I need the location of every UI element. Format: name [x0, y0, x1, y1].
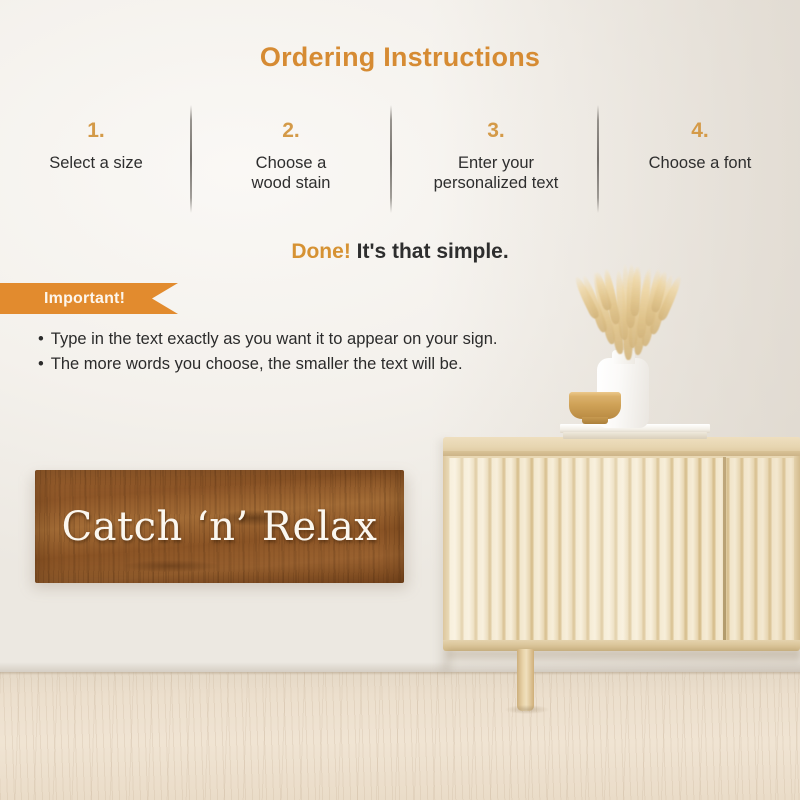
sideboard-under-shadow	[447, 650, 800, 666]
important-ribbon-label: Important!	[44, 290, 125, 308]
sideboard-top-edge	[443, 451, 800, 456]
sideboard-leg	[517, 649, 534, 711]
step-3-number: 3.	[398, 118, 594, 144]
step-3-label: Enter yourpersonalized text	[398, 153, 594, 193]
bullet-item-2: •The more words you choose, the smaller …	[38, 352, 638, 377]
bowl-foot	[582, 417, 608, 424]
important-ribbon: Important!	[0, 283, 178, 314]
floor-wall-seam	[0, 672, 800, 675]
sideboard	[443, 437, 800, 669]
bowl-rim	[569, 392, 621, 397]
bullet-marker-icon: •	[38, 355, 44, 373]
book-bottom	[563, 432, 707, 439]
done-rest: It's that simple.	[357, 240, 509, 263]
step-4-number: 4.	[604, 118, 796, 144]
sideboard-leg-shadow	[505, 705, 549, 714]
step-4: 4. Choose a font	[604, 118, 796, 173]
step-2: 2. Choose awood stain	[196, 118, 386, 193]
sideboard-panel-seam	[723, 457, 726, 643]
step-1: 1. Select a size	[5, 118, 187, 173]
wood-sign: Catch ‘n’ Relax	[35, 470, 404, 583]
sideboard-body	[443, 455, 800, 645]
decorative-bowl	[569, 392, 621, 426]
bullet-text-2: The more words you choose, the smaller t…	[51, 355, 463, 373]
step-3: 3. Enter yourpersonalized text	[398, 118, 594, 193]
important-bullets: •Type in the text exactly as you want it…	[38, 327, 638, 376]
done-tagline: Done! It's that simple.	[0, 240, 800, 264]
bullet-item-1: •Type in the text exactly as you want it…	[38, 327, 638, 352]
step-1-number: 1.	[5, 118, 187, 144]
bullet-marker-icon: •	[38, 330, 44, 348]
page-title: Ordering Instructions	[0, 42, 800, 73]
sign-text: Catch ‘n’ Relax	[35, 470, 404, 583]
step-2-number: 2.	[196, 118, 386, 144]
product-infographic: Catch ‘n’ Relax Ordering Instructions 1.…	[0, 0, 800, 800]
sideboard-frame-left	[443, 453, 449, 647]
step-1-label: Select a size	[5, 153, 187, 173]
sideboard-sheen	[448, 458, 800, 642]
sideboard-frame-right	[794, 453, 800, 647]
wood-floor	[0, 672, 800, 800]
bullet-text-1: Type in the text exactly as you want it …	[51, 330, 498, 348]
steps-list: 1. Select a size 2. Choose awood stain 3…	[0, 118, 800, 218]
done-highlight: Done!	[291, 240, 351, 263]
step-2-label: Choose awood stain	[196, 153, 386, 193]
step-4-label: Choose a font	[604, 153, 796, 173]
